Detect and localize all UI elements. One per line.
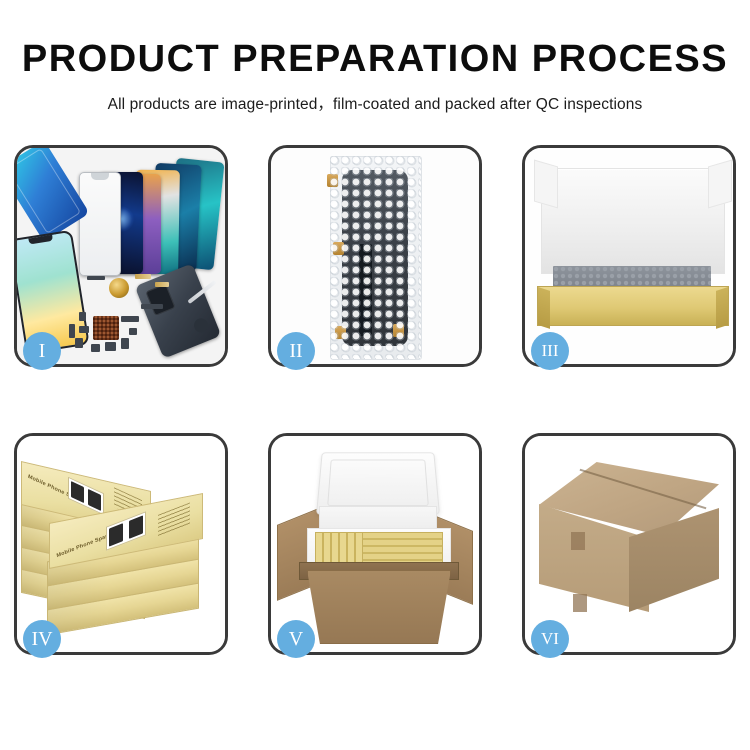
small-part-8 — [105, 342, 116, 351]
small-part-11 — [129, 328, 137, 335]
small-part-6 — [75, 338, 83, 348]
glass-panel — [79, 172, 121, 276]
box-spec-lines-2 — [158, 502, 190, 536]
small-part-2 — [135, 274, 151, 279]
page-title: PRODUCT PREPARATION PROCESS — [0, 0, 750, 78]
process-steps-grid: I II III — [14, 145, 736, 655]
box-screen-photo-1 — [68, 477, 104, 516]
wrapped-phone-screen — [342, 170, 408, 346]
step-image-5 — [271, 436, 479, 652]
tape-piece-4 — [393, 324, 404, 337]
step-image-3 — [525, 148, 733, 364]
carton-front-face — [307, 570, 451, 644]
small-part-12 — [69, 324, 75, 338]
carton-tape-2 — [573, 594, 587, 612]
step-panel-4[interactable]: Mobile Phone Spare Parts Mobile Phone Sp… — [14, 433, 228, 655]
small-part-5 — [79, 326, 89, 333]
step-badge-1: I — [23, 332, 61, 370]
chip-grid-part — [93, 316, 119, 340]
step-badge-5: V — [277, 620, 315, 658]
white-foam-lid — [541, 168, 725, 274]
tape-piece-2 — [333, 242, 344, 255]
kraft-box-tray — [537, 286, 729, 326]
step-image-2 — [271, 148, 479, 364]
small-part-9 — [121, 338, 129, 349]
tape-piece-3 — [335, 326, 346, 339]
small-part-4 — [79, 312, 86, 321]
box-screen-photo-2 — [106, 511, 146, 551]
small-part-7 — [91, 344, 100, 352]
step-badge-3: III — [531, 332, 569, 370]
tape-piece-1 — [327, 174, 338, 187]
step-badge-2: II — [277, 332, 315, 370]
small-part-1 — [87, 276, 105, 280]
small-part-10 — [121, 316, 139, 322]
carton-tape-1 — [571, 532, 585, 550]
small-part-13 — [141, 304, 163, 309]
step-image-1 — [17, 148, 225, 364]
page-subtitle: All products are image-printed，film-coat… — [0, 78, 750, 114]
step-badge-4: IV — [23, 620, 61, 658]
box-stack: Mobile Phone Spare Parts Mobile Phone Sp… — [21, 454, 225, 640]
step-badge-6: VI — [531, 620, 569, 658]
step-image-6 — [525, 436, 733, 652]
page-header: PRODUCT PREPARATION PROCESS All products… — [0, 0, 750, 114]
step-panel-3[interactable]: III — [522, 145, 736, 367]
step-image-4: Mobile Phone Spare Parts Mobile Phone Sp… — [17, 436, 225, 652]
flex-cable — [359, 244, 372, 336]
step-panel-2[interactable]: II — [268, 145, 482, 367]
gold-coil-part — [109, 278, 129, 298]
step-panel-6[interactable]: VI — [522, 433, 736, 655]
small-part-3 — [155, 282, 169, 287]
step-panel-5[interactable]: V — [268, 433, 482, 655]
step-panel-1[interactable]: I — [14, 145, 228, 367]
